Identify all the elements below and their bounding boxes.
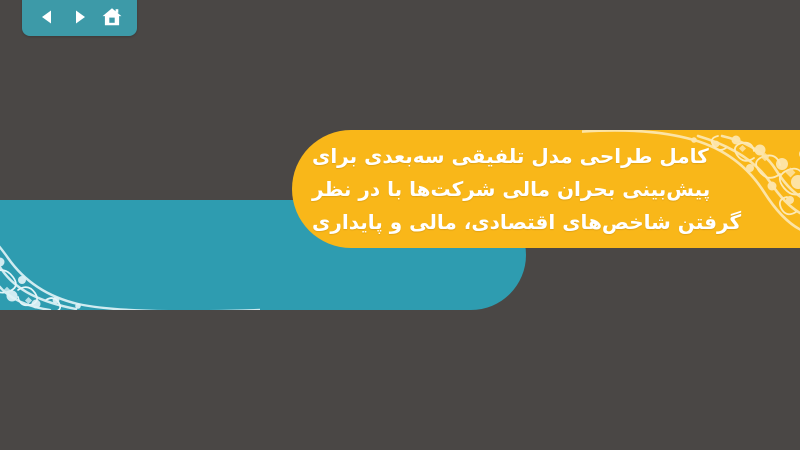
title-line-1: کامل طراحی مدل تلفیقی سه‌بعدی برای (312, 140, 709, 173)
triangle-right-icon (71, 8, 89, 26)
home-button[interactable] (99, 4, 125, 30)
title-line-2: پیش‌بینی بحران مالی شرکت‌ها با در نظر (312, 173, 710, 206)
house-icon (101, 6, 123, 28)
navigation-toolbar (22, 0, 137, 36)
slide-canvas: کامل طراحی مدل تلفیقی سه‌بعدی برای پیش‌ب… (0, 0, 800, 450)
arabesque-ornament-teal (0, 200, 260, 310)
slide-title: کامل طراحی مدل تلفیقی سه‌بعدی برای پیش‌ب… (292, 130, 800, 248)
triangle-left-icon (38, 8, 56, 26)
yellow-banner: کامل طراحی مدل تلفیقی سه‌بعدی برای پیش‌ب… (292, 130, 800, 248)
next-button[interactable] (67, 4, 93, 30)
title-line-3: گرفتن شاخص‌های اقتصادی، مالی و پایداری (312, 206, 741, 239)
previous-button[interactable] (34, 4, 60, 30)
